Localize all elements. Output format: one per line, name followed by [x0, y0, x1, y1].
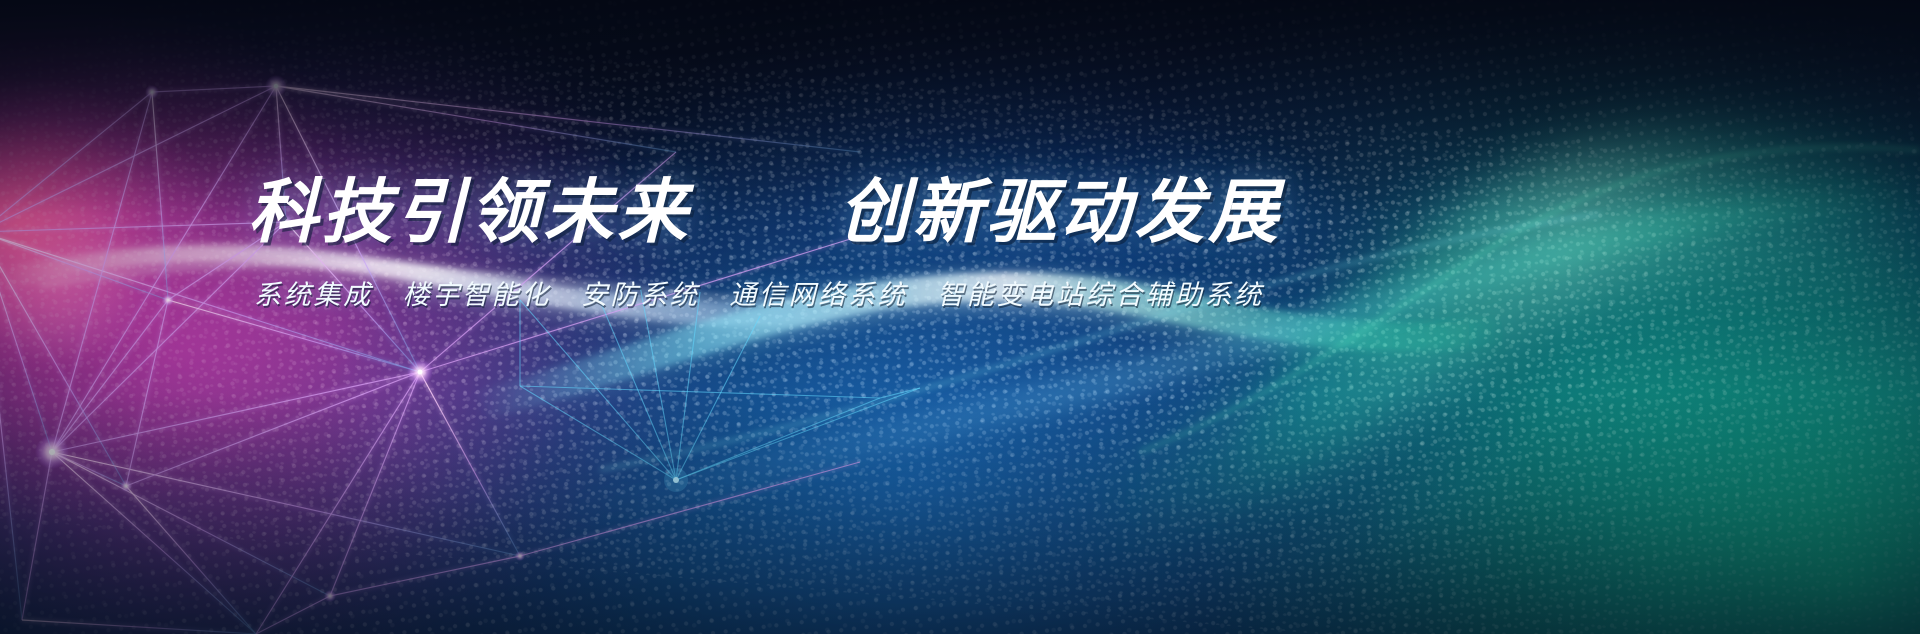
banner-subtitle: 系统集成 楼宇智能化 安防系统 通信网络系统 智能变电站综合辅助系统 [254, 273, 1368, 312]
page-title: 科技引领未来 创新驱动发展 [248, 176, 1368, 249]
banner-copy-block: 科技引领未来 创新驱动发展 系统集成 楼宇智能化 安防系统 通信网络系统 智能变… [248, 176, 1368, 312]
tech-hero-banner: 科技引领未来 创新驱动发展 系统集成 楼宇智能化 安防系统 通信网络系统 智能变… [0, 0, 1920, 634]
network-nodes [35, 75, 525, 602]
polygon-network-overlay [0, 0, 860, 634]
network-edges [0, 86, 860, 634]
